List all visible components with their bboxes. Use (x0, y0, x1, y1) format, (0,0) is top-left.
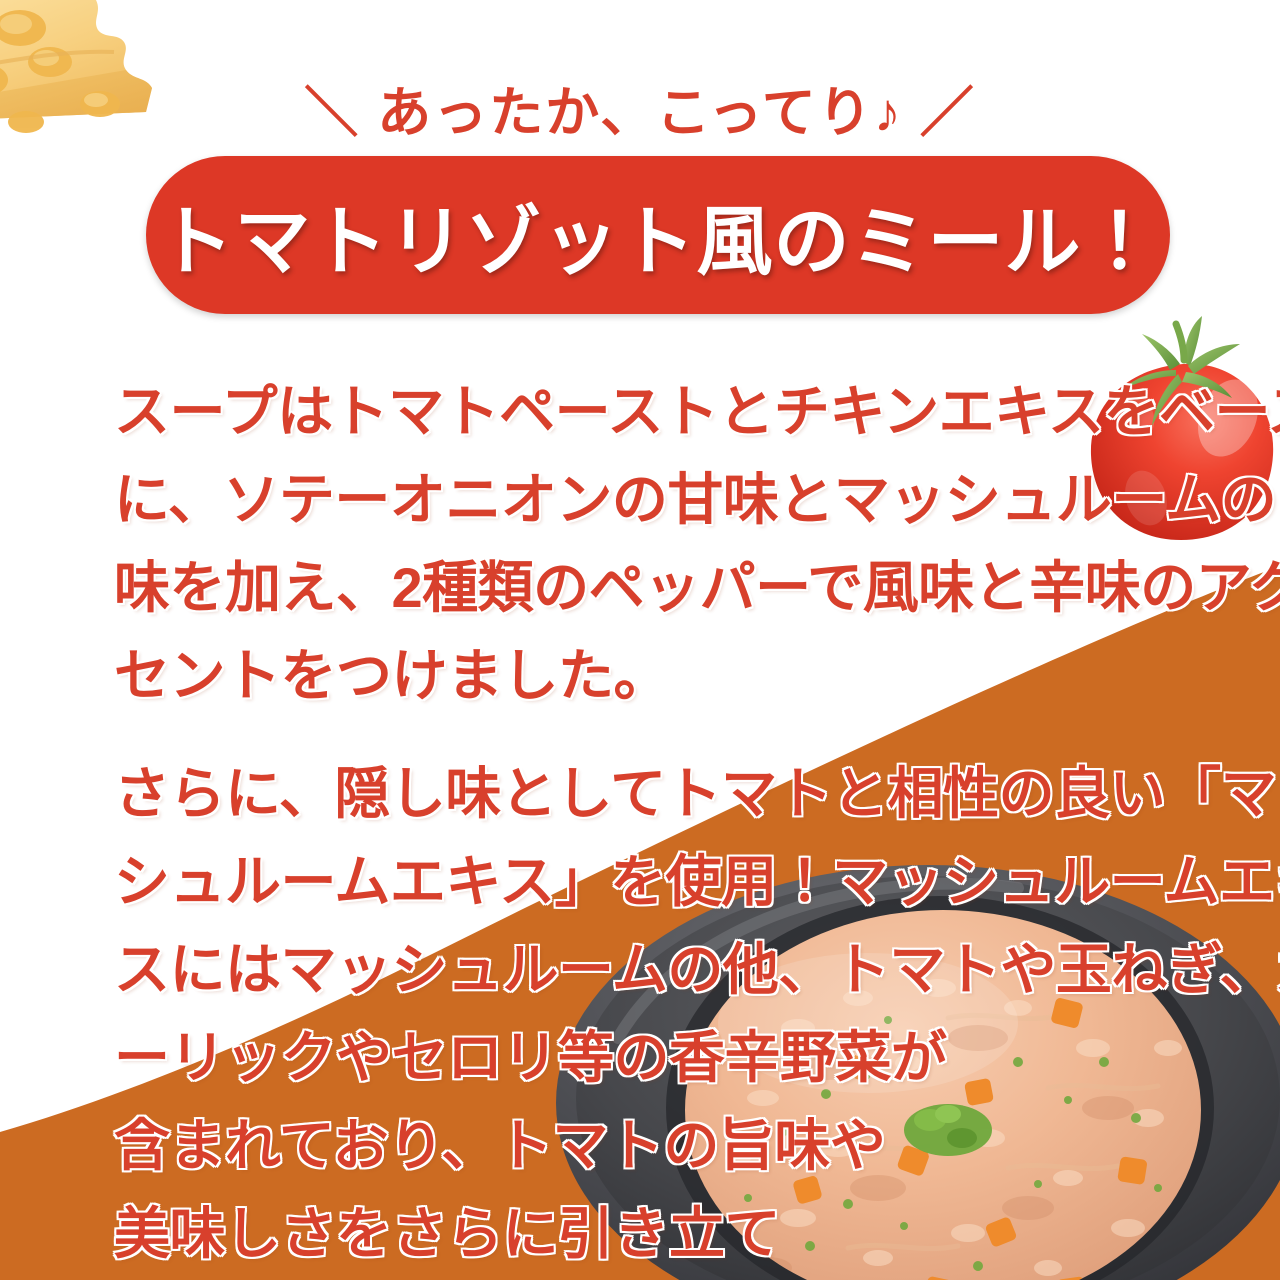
paragraph-line: セントをつけました。 (114, 632, 1169, 720)
paragraph-soup-base: スープはトマトペーストとチキンエキスをベース に、ソテーオニオンの甘味とマッシュ… (114, 368, 1169, 720)
paragraph-line: シュルームエキス」を使用！マッシュルームエキ (114, 838, 1174, 926)
paragraph-line: 味を加え、2種類のペッパーで風味と辛味のアク (114, 544, 1169, 632)
paragraph-line: 美味しさをさらに引き立て (114, 1190, 1174, 1278)
paragraph-line: スープはトマトペーストとチキンエキスをベース (114, 368, 1169, 456)
paragraph-line: に、ソテーオニオンの甘味とマッシュルームの旨 (114, 456, 1169, 544)
paragraph-line: ーリックやセロリ等の香辛野菜が (114, 1014, 1174, 1102)
paragraph-line: さらに、隠し味としてトマトと相性の良い「マッ (114, 750, 1174, 838)
body-copy: スープはトマトペーストとチキンエキスをベース に、ソテーオニオンの甘味とマッシュ… (114, 368, 1174, 1280)
title-pill: トマトリゾット風のミール！ (146, 156, 1170, 314)
paragraph-mushroom-extract: さらに、隠し味としてトマトと相性の良い「マッ シュルームエキス」を使用！マッシュ… (114, 750, 1174, 1280)
paragraph-line: 含まれており、トマトの旨味や (114, 1102, 1174, 1190)
tagline: ＼ あったか、こってり♪ ／ (0, 68, 1280, 147)
product-banner: ＼ あったか、こってり♪ ／ トマトリゾット風のミール！ スープはトマトペースト… (0, 0, 1280, 1280)
page-title: トマトリゾット風のミール！ (158, 180, 1159, 290)
paragraph-line: スにはマッシュルームの他、トマトや玉ねぎ、ガ (114, 926, 1174, 1014)
